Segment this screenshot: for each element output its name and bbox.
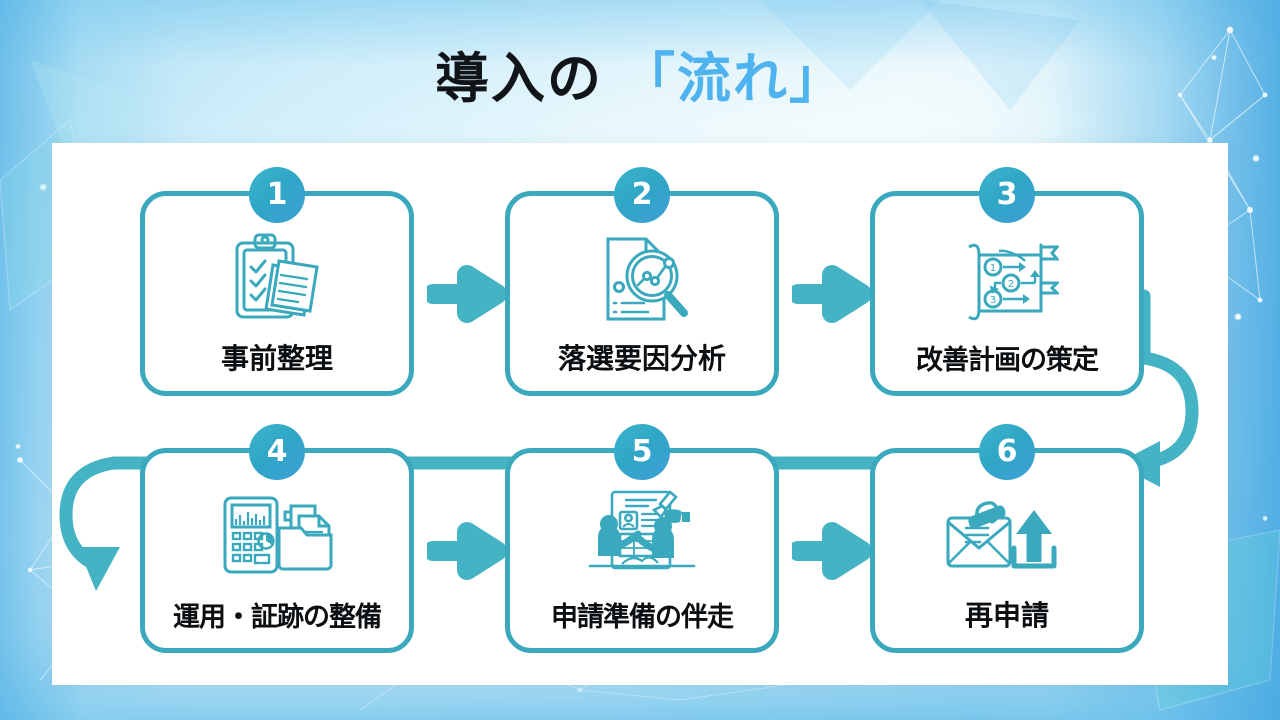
step-card-5[interactable]: 5 <box>505 448 779 653</box>
step-card-4[interactable]: 4 <box>140 448 414 653</box>
step-label-6: 再申請 <box>875 594 1139 634</box>
step-card-6[interactable]: 6 再申請 <box>870 448 1144 653</box>
step-number-badge-6: 6 <box>979 424 1035 480</box>
step-number-badge-4: 4 <box>249 424 305 480</box>
flow-diagram: 1 事前整理 <box>52 143 1228 685</box>
document-magnifier-chart-icon <box>510 226 774 331</box>
step-number-badge-5: 5 <box>614 424 670 480</box>
clipboard-checklist-documents-icon <box>145 226 409 331</box>
slide-title: 導入の「流れ」 <box>0 34 1280 113</box>
step-label-4: 運用・証跡の整備 <box>145 595 409 634</box>
step-number-badge-3: 3 <box>979 167 1035 223</box>
step-label-1: 事前整理 <box>145 337 409 377</box>
step-card-3[interactable]: 3 1 2 <box>870 191 1144 396</box>
step-label-3: 改善計画の策定 <box>875 338 1139 377</box>
svg-text:2: 2 <box>1008 279 1014 290</box>
envelope-stamp-upload-icon <box>875 483 1139 588</box>
svg-text:1: 1 <box>990 263 996 274</box>
calculator-folder-documents-icon <box>145 483 409 588</box>
title-main-text: 導入の <box>435 34 603 113</box>
svg-text:3: 3 <box>990 295 996 306</box>
step-card-2[interactable]: 2 落選要因分析 <box>505 191 779 396</box>
step-number-badge-2: 2 <box>614 167 670 223</box>
title-accent-text: 「流れ」 <box>621 34 845 113</box>
roadmap-plan-flags-icon: 1 2 3 <box>875 226 1139 331</box>
people-form-collaboration-icon <box>510 483 774 588</box>
arrow-step4-to-step5 <box>427 520 507 582</box>
arrow-step1-to-step2 <box>427 263 507 325</box>
step-label-2: 落選要因分析 <box>510 337 774 377</box>
step-label-5: 申請準備の伴走 <box>510 595 774 634</box>
flow-panel: 1 事前整理 <box>52 143 1228 685</box>
arrow-step2-to-step3 <box>792 263 872 325</box>
slide-canvas: 導入の「流れ」 1 <box>0 0 1280 720</box>
arrow-step5-to-step6 <box>792 520 872 582</box>
step-number-badge-1: 1 <box>249 167 305 223</box>
step-card-1[interactable]: 1 事前整理 <box>140 191 414 396</box>
